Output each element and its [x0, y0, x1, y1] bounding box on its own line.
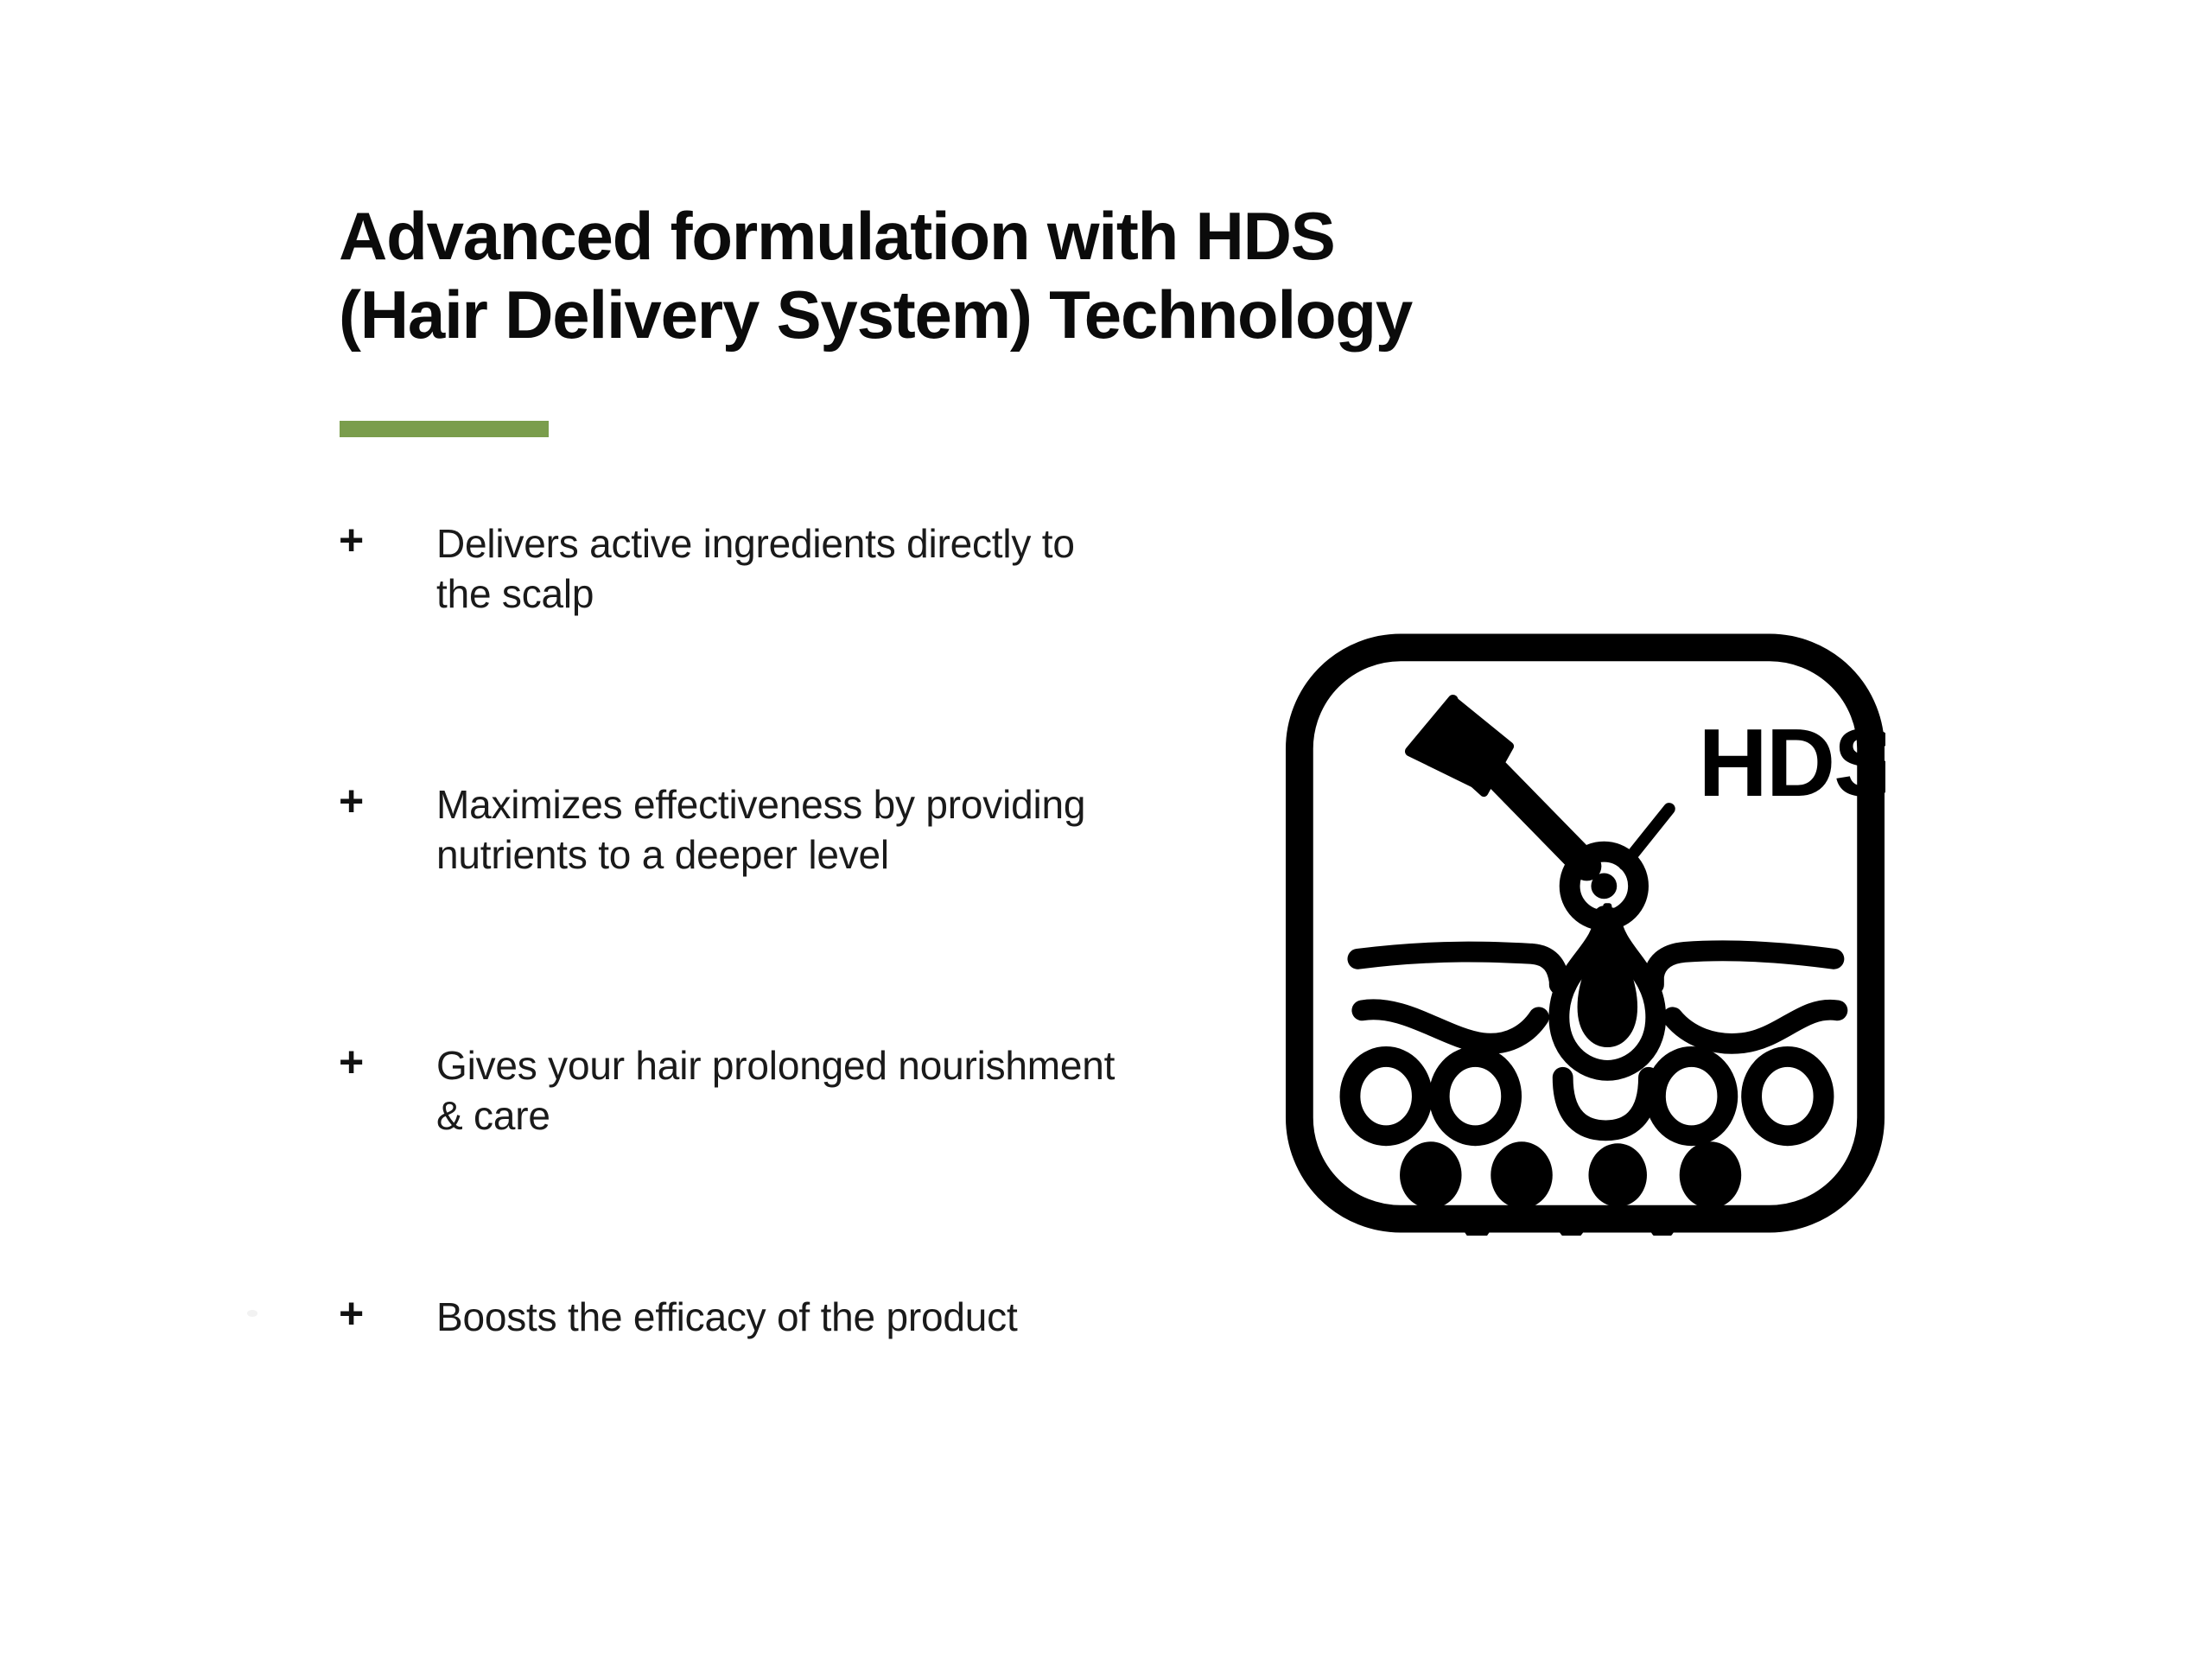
hds-technology-icon: HDS — [1285, 631, 1885, 1236]
icon-label-hds: HDS — [1699, 709, 1885, 817]
plus-icon: + — [339, 779, 391, 823]
list-item-label: Delivers active ingredients directly to … — [436, 518, 1075, 620]
list-item: + Delivers active ingredients directly t… — [339, 518, 1075, 620]
page-title: Advanced formulation with HDS (Hair Deli… — [339, 197, 1808, 355]
pore-circle — [1440, 1057, 1511, 1135]
list-item: + Gives your hair prolonged nourishment … — [339, 1040, 1115, 1141]
list-item-label: Maximizes effectiveness by providing nut… — [436, 779, 1085, 880]
plus-icon: + — [339, 1292, 391, 1335]
list-item: + Maximizes effectiveness by providing n… — [339, 779, 1085, 880]
pore-circle — [1350, 1057, 1421, 1135]
list-item-label: Gives your hair prolonged nourishment & … — [436, 1040, 1115, 1141]
pore-circle — [1656, 1057, 1727, 1135]
pore-arc — [1563, 1077, 1649, 1131]
dermis-line-left — [1362, 1009, 1539, 1043]
accent-rule — [340, 421, 549, 437]
particle-dot — [1400, 1141, 1461, 1208]
particle-dot — [1680, 1141, 1741, 1208]
title-block: Advanced formulation with HDS (Hair Deli… — [339, 197, 1808, 355]
plus-icon: + — [339, 1040, 391, 1084]
list-item: + Boosts the efficacy of the product — [339, 1292, 1018, 1342]
slide-canvas: Advanced formulation with HDS (Hair Deli… — [0, 0, 2212, 1659]
plus-icon: + — [339, 518, 391, 562]
particle-dot — [1588, 1143, 1647, 1206]
pore-circle — [1751, 1057, 1823, 1135]
particle-dot — [1491, 1141, 1552, 1208]
list-item-label: Boosts the efficacy of the product — [436, 1292, 1018, 1342]
stray-mark — [247, 1310, 257, 1317]
node-core — [1591, 874, 1617, 899]
dermis-line-right — [1673, 1010, 1838, 1044]
